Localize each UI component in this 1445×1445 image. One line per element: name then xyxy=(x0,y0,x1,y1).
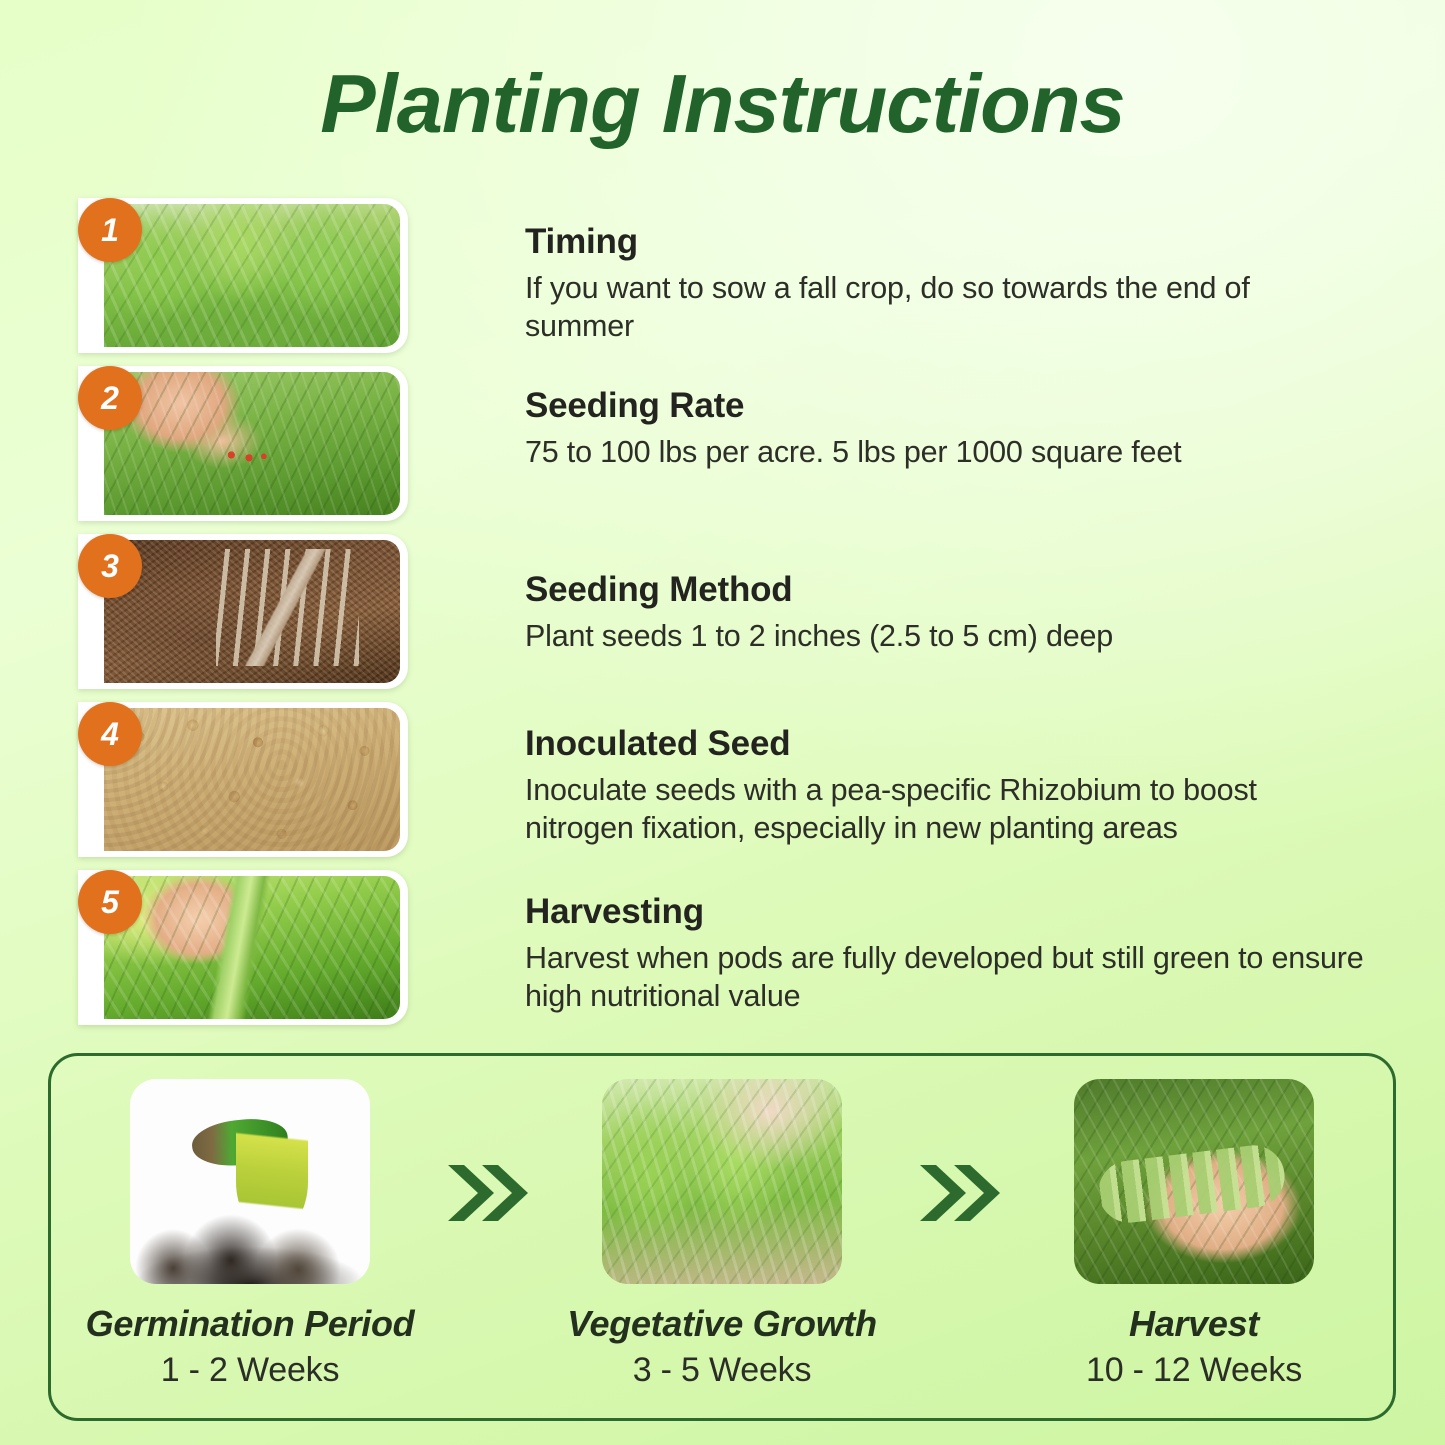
step-number-badge: 3 xyxy=(78,534,142,598)
step-title: Timing xyxy=(525,222,1368,262)
step-thumbnail-frame: 2 xyxy=(78,366,408,521)
step-description: Plant seeds 1 to 2 inches (2.5 to 5 cm) … xyxy=(525,617,1365,655)
timeline-stage-label: Harvest xyxy=(1129,1304,1259,1344)
step-number-badge: 5 xyxy=(78,870,142,934)
step-title: Inoculated Seed xyxy=(525,724,1368,764)
timeline-stage-germination: Germination Period 1 - 2 Weeks xyxy=(85,1079,415,1389)
step-item: 4 Inoculated Seed Inoculate seeds with a… xyxy=(78,702,1368,870)
timeline-stage-harvest: Harvest 10 - 12 Weeks xyxy=(1029,1079,1359,1389)
step-number-badge: 2 xyxy=(78,366,142,430)
step-item: 5 Harvesting Harvest when pods are fully… xyxy=(78,870,1368,1038)
page-title: Planting Instructions xyxy=(0,62,1445,145)
step-number-badge: 4 xyxy=(78,702,142,766)
step-description: If you want to sow a fall crop, do so to… xyxy=(525,269,1365,345)
step-text-block: Seeding Method Plant seeds 1 to 2 inches… xyxy=(408,534,1368,655)
soil-with-rake-photo xyxy=(104,540,400,683)
step-title: Harvesting xyxy=(525,892,1368,932)
pea-seeds-photo xyxy=(104,708,400,851)
planting-steps-list: 1 Timing If you want to sow a fall crop,… xyxy=(78,198,1368,1038)
step-text-block: Harvesting Harvest when pods are fully d… xyxy=(408,870,1368,1016)
double-chevron-right-icon xyxy=(431,1079,541,1227)
sprouting-seed-photo xyxy=(130,1079,370,1284)
step-title: Seeding Rate xyxy=(525,386,1368,426)
step-thumbnail-frame: 1 xyxy=(78,198,408,353)
step-text-block: Timing If you want to sow a fall crop, d… xyxy=(408,198,1368,346)
hand-over-pea-vines-photo xyxy=(104,372,400,515)
young-pea-plants-photo xyxy=(602,1079,842,1284)
timeline-stage-duration: 10 - 12 Weeks xyxy=(1086,1352,1302,1389)
growth-timeline-panel: Germination Period 1 - 2 Weeks Vegetativ… xyxy=(48,1053,1396,1421)
step-item: 1 Timing If you want to sow a fall crop,… xyxy=(78,198,1368,366)
step-number-badge: 1 xyxy=(78,198,142,262)
step-thumbnail-frame: 5 xyxy=(78,870,408,1025)
step-description: Harvest when pods are fully developed bu… xyxy=(525,939,1365,1015)
step-thumbnail-frame: 3 xyxy=(78,534,408,689)
step-thumbnail-frame: 4 xyxy=(78,702,408,857)
pea-field-photo xyxy=(104,204,400,347)
step-description: Inoculate seeds with a pea-specific Rhiz… xyxy=(525,771,1365,847)
step-item: 3 Seeding Method Plant seeds 1 to 2 inch… xyxy=(78,534,1368,702)
timeline-stage-label: Vegetative Growth xyxy=(567,1304,877,1344)
step-title: Seeding Method xyxy=(525,570,1368,610)
harvested-pea-pods-photo xyxy=(1074,1079,1314,1284)
timeline-stage-vegetative: Vegetative Growth 3 - 5 Weeks xyxy=(557,1079,887,1389)
step-text-block: Inoculated Seed Inoculate seeds with a p… xyxy=(408,702,1368,848)
timeline-stage-label: Germination Period xyxy=(86,1304,415,1344)
double-chevron-right-icon xyxy=(903,1079,1013,1227)
infographic-page: Planting Instructions 1 Timing If you wa… xyxy=(0,0,1445,1445)
step-text-block: Seeding Rate 75 to 100 lbs per acre. 5 l… xyxy=(408,366,1368,471)
timeline-stage-duration: 3 - 5 Weeks xyxy=(633,1352,812,1389)
hand-picking-pod-photo xyxy=(104,876,400,1019)
timeline-stage-duration: 1 - 2 Weeks xyxy=(161,1352,340,1389)
step-item: 2 Seeding Rate 75 to 100 lbs per acre. 5… xyxy=(78,366,1368,534)
step-description: 75 to 100 lbs per acre. 5 lbs per 1000 s… xyxy=(525,433,1365,471)
